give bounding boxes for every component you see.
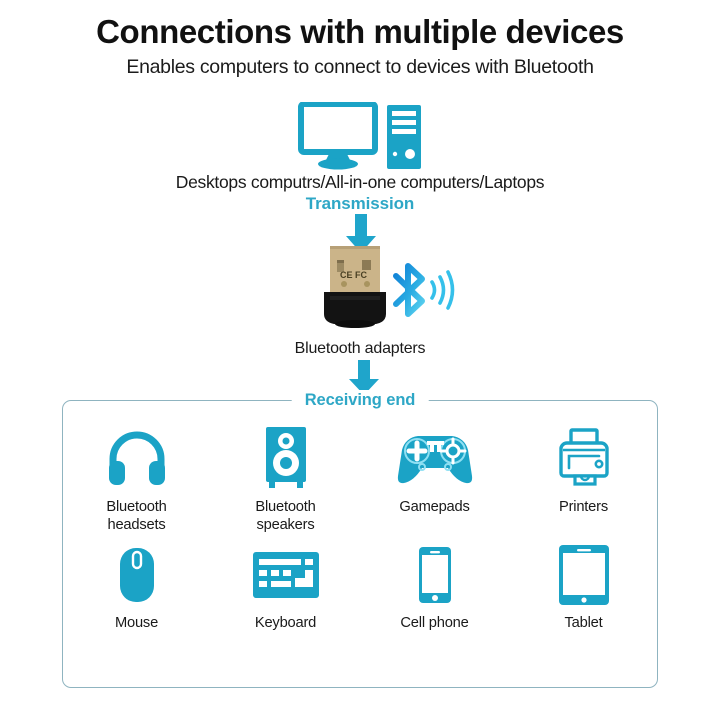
header: Connections with multiple devices Enable… [0, 14, 720, 79]
keyboard-icon [252, 542, 320, 608]
desktop-monitor-icon [298, 102, 378, 170]
tablet-icon [557, 542, 611, 608]
page-title: Connections with multiple devices [0, 14, 720, 50]
gamepad-icon [396, 424, 474, 492]
infographic-page: Connections with multiple devices Enable… [0, 0, 720, 720]
device-label: Tablet [565, 614, 603, 632]
cellphone-icon [417, 542, 453, 608]
device-label: Mouse [115, 614, 158, 632]
device-item-speakers[interactable]: Bluetooth speakers [211, 424, 360, 542]
device-item-cellphone[interactable]: Cell phone [360, 542, 509, 660]
device-label: Bluetooth headsets [106, 498, 166, 535]
device-label: Keyboard [255, 614, 316, 632]
device-item-printers[interactable]: Printers [509, 424, 658, 542]
device-item-headsets[interactable]: Bluetooth headsets [62, 424, 211, 542]
device-label: Bluetooth speakers [255, 498, 315, 535]
device-item-tablet[interactable]: Tablet [509, 542, 658, 660]
printer-icon [553, 424, 615, 492]
transmission-label: Transmission [0, 194, 720, 214]
device-item-mouse[interactable]: Mouse [62, 542, 211, 660]
headset-icon [107, 424, 167, 492]
device-label: Printers [559, 498, 608, 516]
device-item-keyboard[interactable]: Keyboard [211, 542, 360, 660]
desktop-tower-icon [386, 104, 422, 170]
receiving-end-label: Receiving end [292, 390, 429, 411]
source-devices-group [0, 100, 720, 170]
svg-text:FC: FC [355, 270, 367, 280]
mouse-icon [118, 542, 156, 608]
bluetooth-signal-icon [392, 262, 458, 318]
speaker-icon [262, 424, 310, 492]
receiving-devices-grid: Bluetooth headsets Bluetooth speakers [62, 424, 658, 674]
source-caption: Desktops computrs/All-in-one computers/L… [0, 172, 720, 193]
device-label: Cell phone [400, 614, 468, 632]
page-subtitle: Enables computers to connect to devices … [0, 57, 720, 78]
adapter-marking: CE [340, 270, 353, 280]
device-label: Gamepads [399, 498, 469, 516]
adapter-caption: Bluetooth adapters [0, 340, 720, 358]
device-item-gamepads[interactable]: Gamepads [360, 424, 509, 542]
